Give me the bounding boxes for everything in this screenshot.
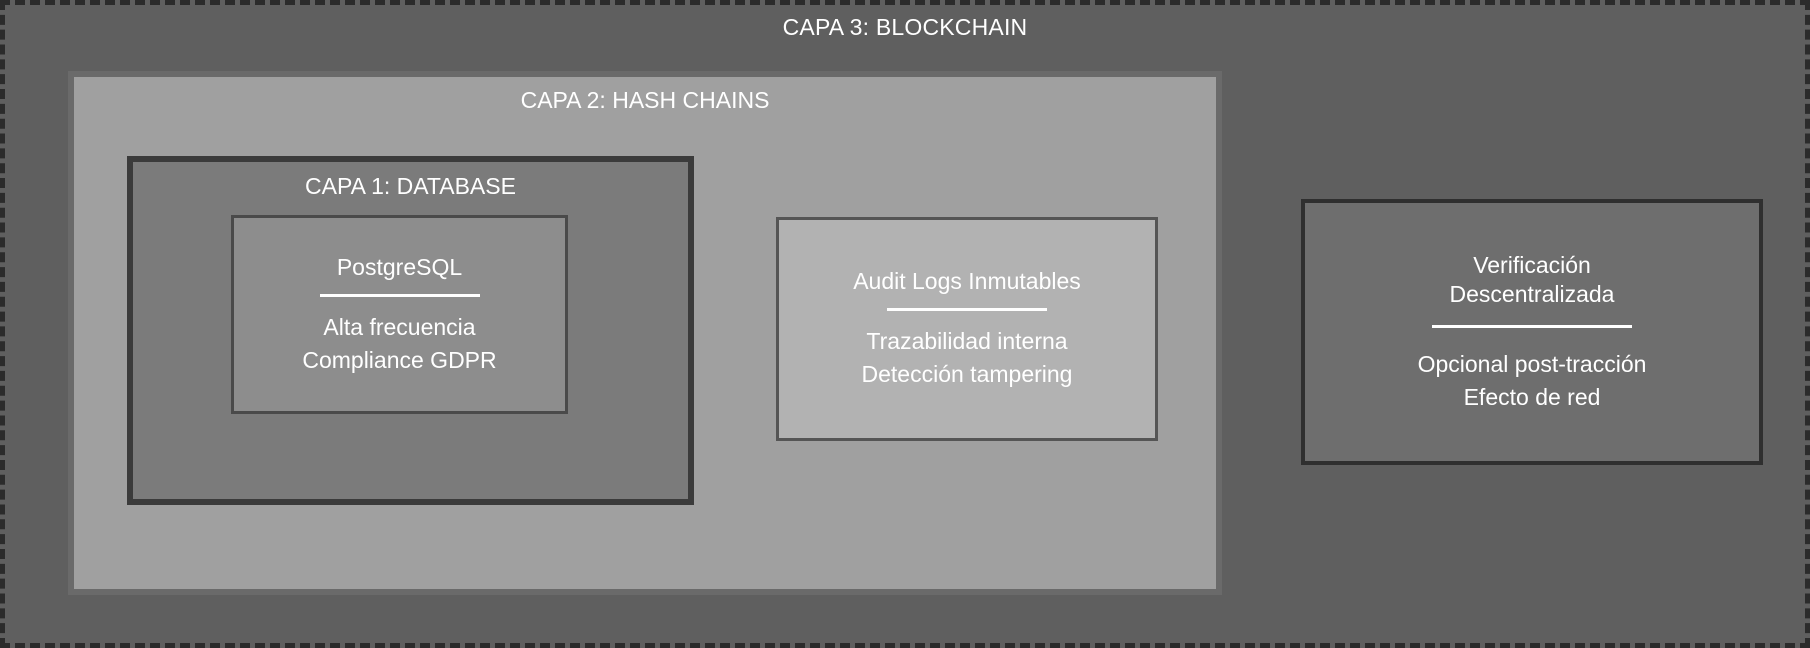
divider-line bbox=[887, 308, 1047, 311]
card-verificacion-line-1: Opcional post-tracción bbox=[1418, 348, 1647, 381]
divider-line bbox=[1432, 325, 1632, 328]
card-verificacion-descentralizada: Verificación Descentralizada Opcional po… bbox=[1301, 199, 1763, 465]
card-postgresql-title: PostgreSQL bbox=[337, 253, 462, 282]
card-postgresql: PostgreSQL Alta frecuencia Compliance GD… bbox=[231, 215, 568, 414]
card-audit-logs: Audit Logs Inmutables Trazabilidad inter… bbox=[776, 217, 1158, 441]
card-verificacion-line-2: Efecto de red bbox=[1464, 381, 1601, 414]
card-audit-logs-line-1: Trazabilidad interna bbox=[866, 325, 1067, 358]
layer-2-title: CAPA 2: HASH CHAINS bbox=[74, 86, 1216, 114]
card-postgresql-line-2: Compliance GDPR bbox=[302, 344, 496, 377]
card-audit-logs-line-2: Detección tampering bbox=[862, 358, 1073, 391]
diagram-canvas: CAPA 3: BLOCKCHAIN CAPA 2: HASH CHAINS C… bbox=[0, 0, 1810, 648]
layer-1-title: CAPA 1: DATABASE bbox=[133, 172, 688, 200]
card-postgresql-line-1: Alta frecuencia bbox=[323, 311, 475, 344]
layer-3-title: CAPA 3: BLOCKCHAIN bbox=[5, 13, 1805, 41]
card-verificacion-title-line-2: Descentralizada bbox=[1450, 280, 1615, 309]
divider-line bbox=[320, 294, 480, 297]
card-audit-logs-title: Audit Logs Inmutables bbox=[853, 267, 1081, 296]
layer-3-blockchain: CAPA 3: BLOCKCHAIN CAPA 2: HASH CHAINS C… bbox=[0, 0, 1810, 648]
card-verificacion-title-line-1: Verificación bbox=[1473, 251, 1591, 280]
